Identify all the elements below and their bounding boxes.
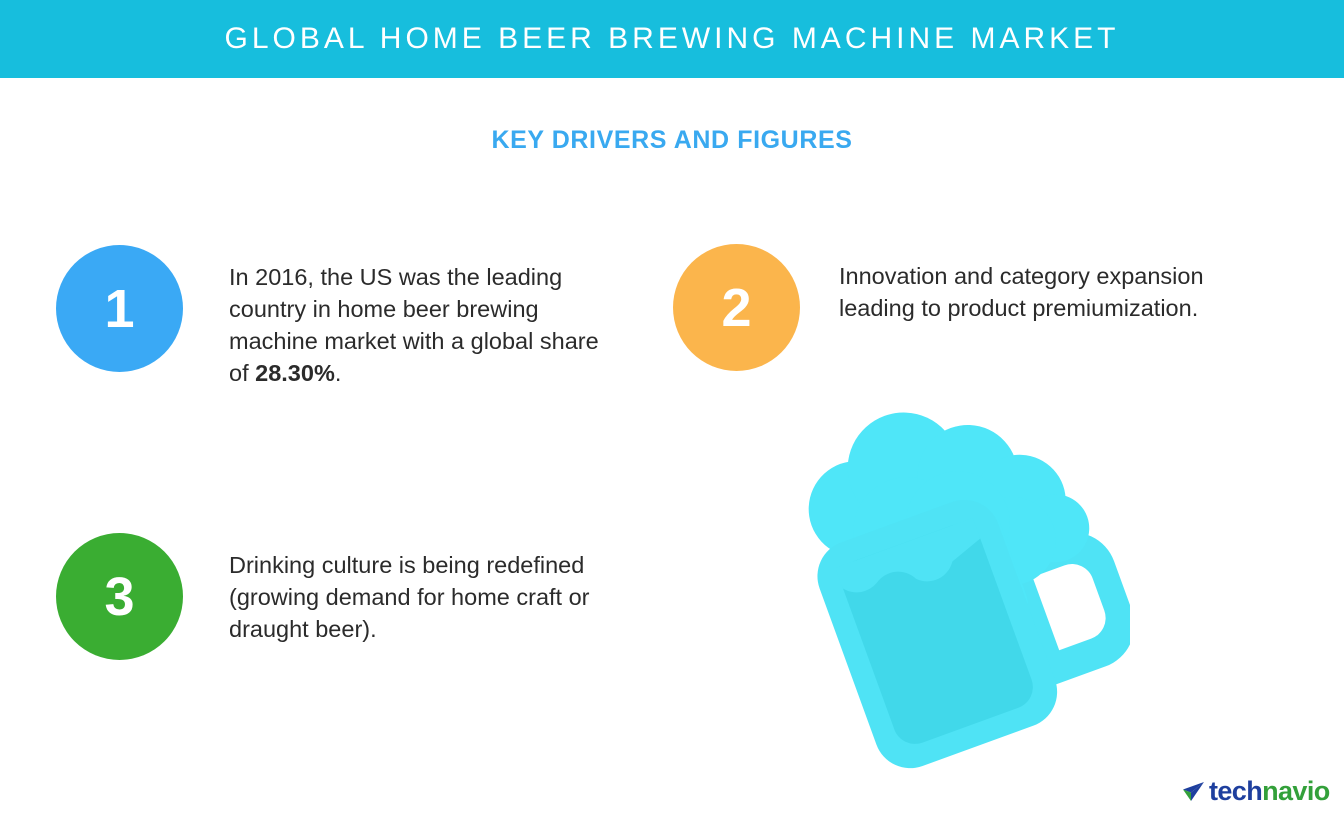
- logo-text-tech: tech: [1209, 778, 1262, 805]
- technavio-logo: technavio: [1180, 774, 1330, 808]
- driver-number-badge-1: 1: [56, 245, 183, 372]
- infographic-page: Global Home Beer Brewing Machine Market …: [0, 0, 1344, 816]
- driver-number-badge-3: 3: [56, 533, 183, 660]
- beer-mug-illustration: [770, 390, 1130, 770]
- driver-text-2-before: Innovation and category expansion leadin…: [839, 263, 1204, 321]
- beer-mug-icon: [770, 390, 1130, 770]
- logo-text-navio: navio: [1262, 778, 1330, 805]
- page-title: Global Home Beer Brewing Machine Market: [225, 22, 1120, 56]
- driver-text-3-before: Drinking culture is being redefined (gro…: [229, 552, 590, 642]
- driver-item-1: 1 In 2016, the US was the leading countr…: [56, 245, 616, 389]
- driver-text-1-emphasis: 28.30%: [255, 360, 335, 386]
- section-subtitle: Key Drivers and Figures: [0, 126, 1344, 155]
- driver-text-1: In 2016, the US was the leading country …: [229, 245, 616, 389]
- header-bar: Global Home Beer Brewing Machine Market: [0, 0, 1344, 78]
- driver-text-3: Drinking culture is being redefined (gro…: [229, 533, 616, 645]
- driver-text-2: Innovation and category expansion leadin…: [839, 244, 1213, 324]
- driver-item-3: 3 Drinking culture is being redefined (g…: [56, 533, 616, 660]
- driver-number-badge-2: 2: [673, 244, 800, 371]
- driver-item-2: 2 Innovation and category expansion lead…: [673, 244, 1213, 371]
- paper-plane-icon: [1180, 778, 1206, 804]
- driver-text-1-after: .: [335, 360, 342, 386]
